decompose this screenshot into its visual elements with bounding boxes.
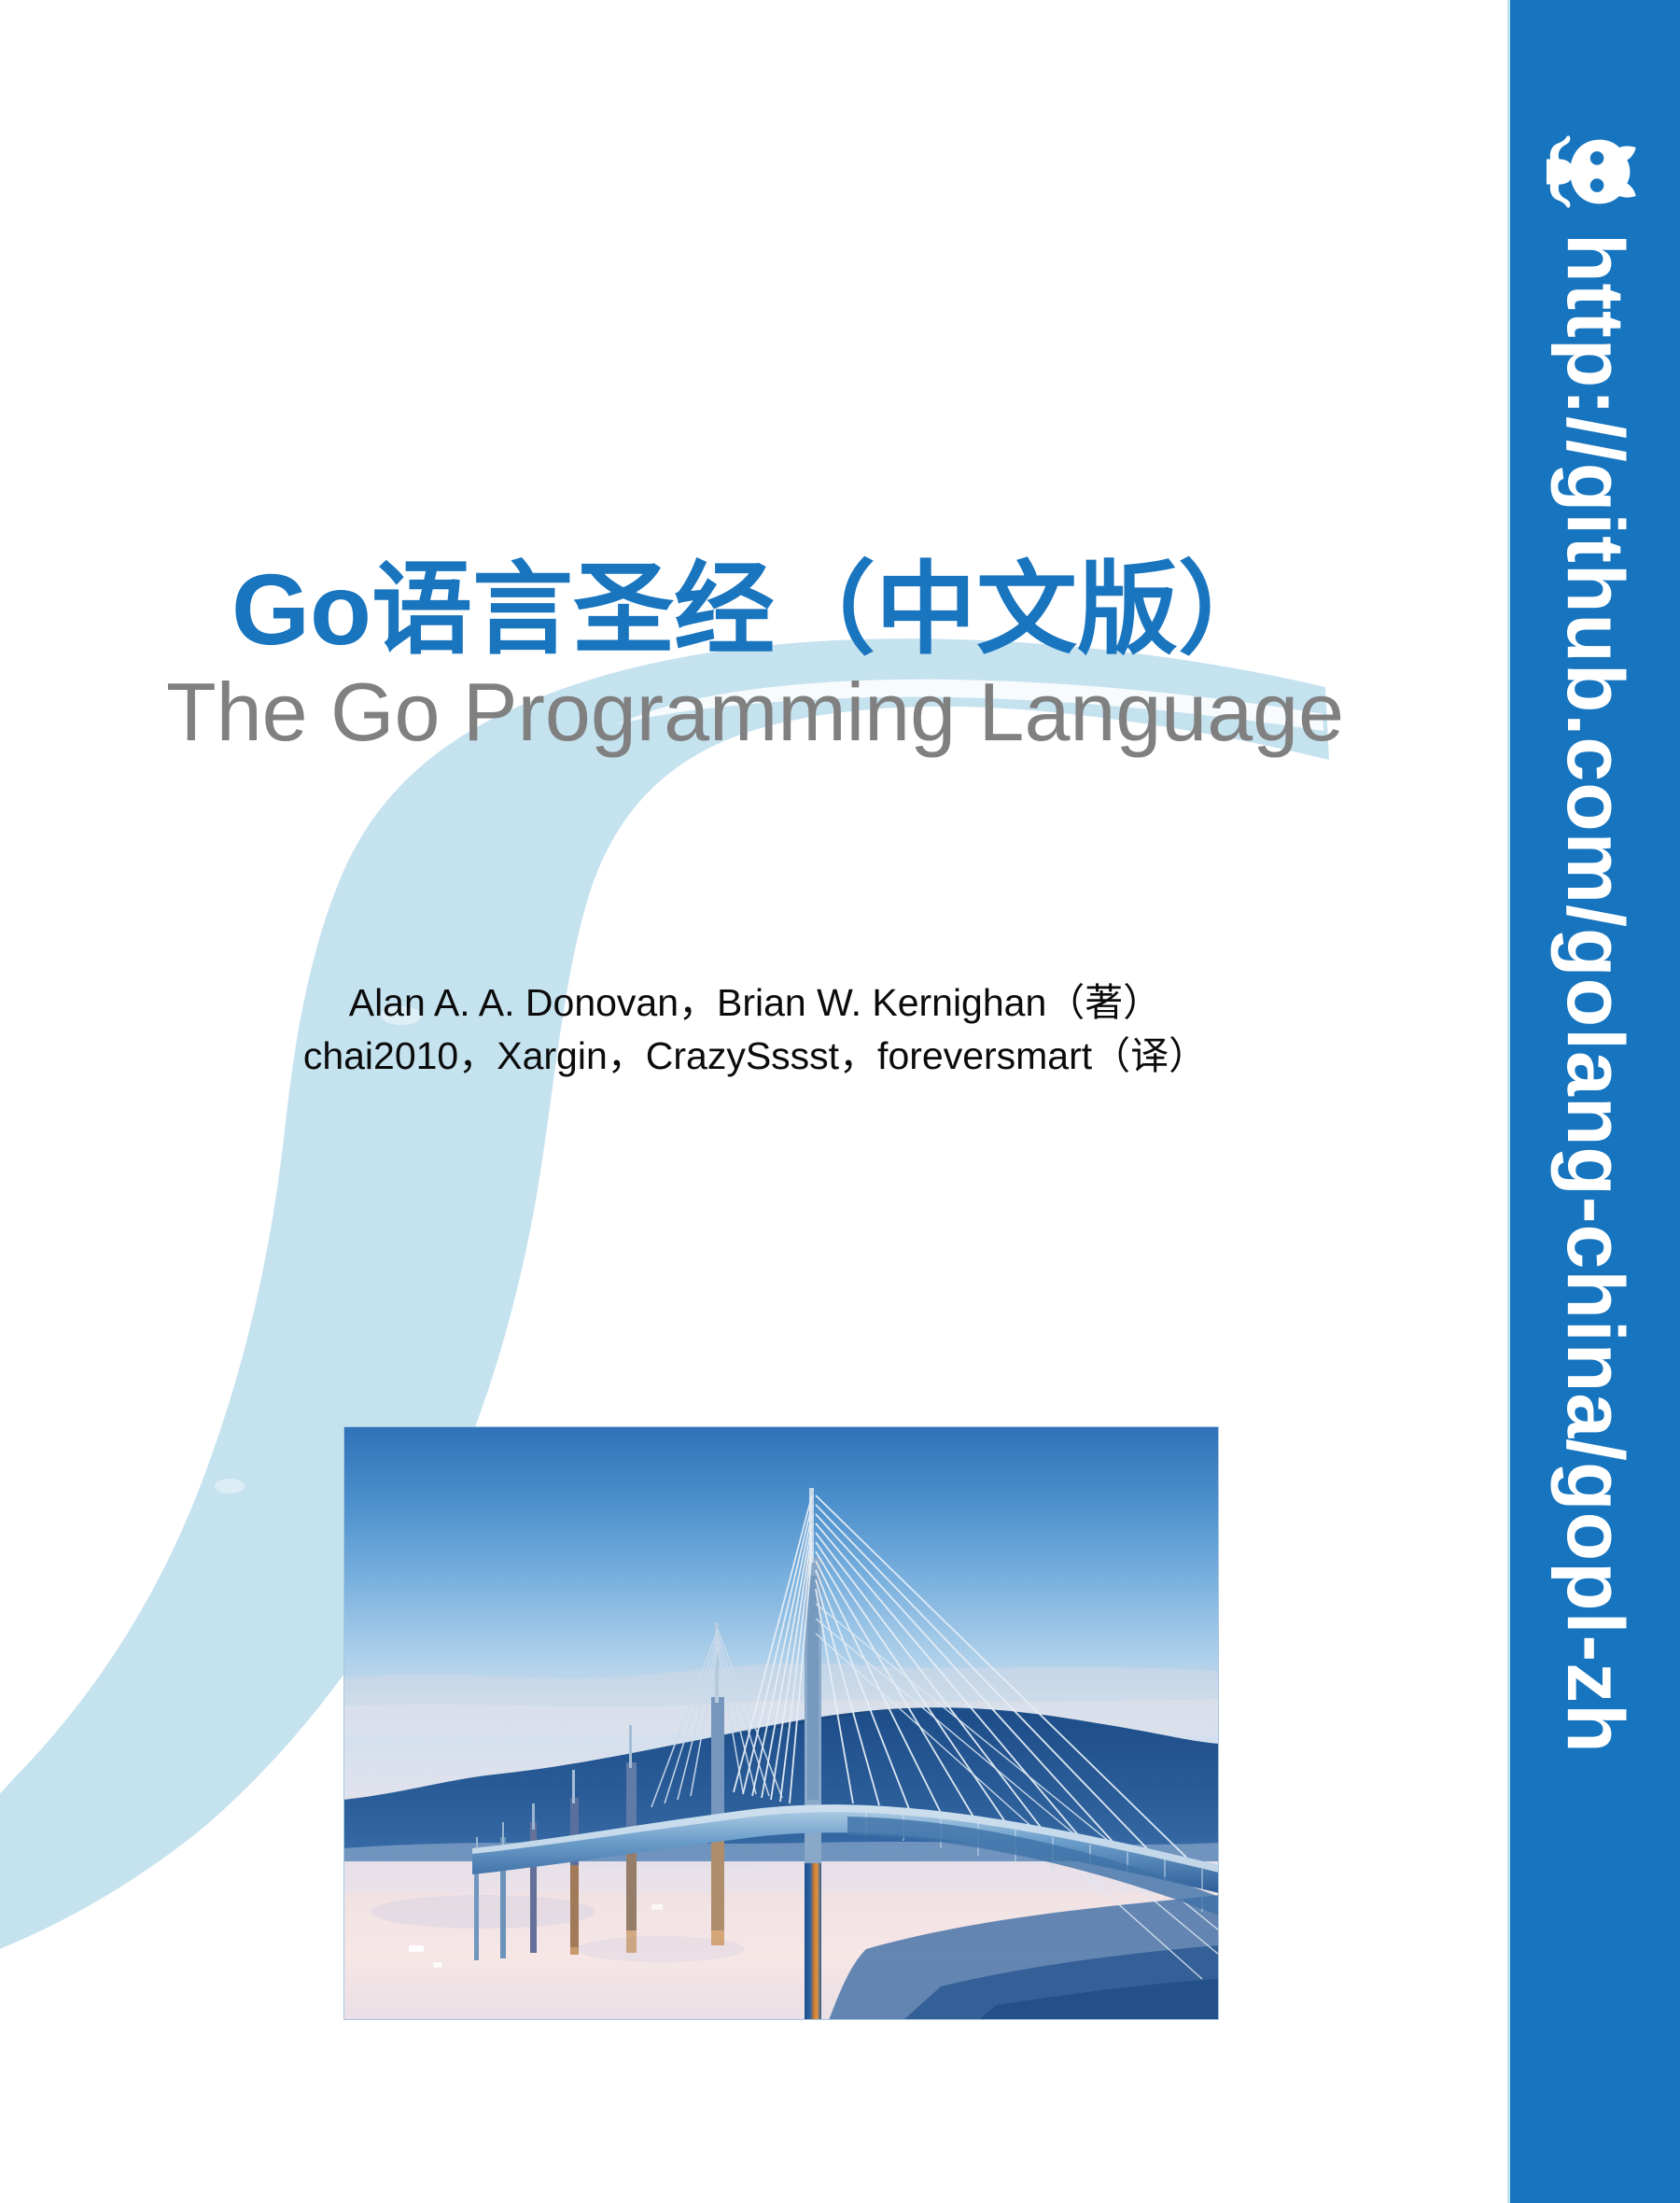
authors-line: Alan A. A. Donovan，Brian W. Kernighan（著） xyxy=(0,976,1510,1030)
page-subtitle: The Go Programming Language xyxy=(0,667,1510,758)
brush-streaks xyxy=(215,680,1381,1494)
title-block: Go语言圣经（中文版） The Go Programming Language xyxy=(0,556,1510,758)
book-cover: Go语言圣经（中文版） The Go Programming Language … xyxy=(0,0,1680,2203)
repository-url[interactable]: http://github.com/golang-china/gopl-zh xyxy=(1555,233,1635,1754)
bridge-illustration xyxy=(343,1426,1219,2020)
translators-line: chai2010，Xargin，CrazySssst，foreversmart（… xyxy=(0,1030,1510,1083)
page-title: Go语言圣经（中文版） xyxy=(0,556,1510,662)
authors-block: Alan A. A. Donovan，Brian W. Kernighan（著）… xyxy=(0,976,1510,1082)
github-octocat-icon xyxy=(1547,123,1644,220)
spine-panel: http://github.com/golang-china/gopl-zh xyxy=(1510,0,1680,2203)
